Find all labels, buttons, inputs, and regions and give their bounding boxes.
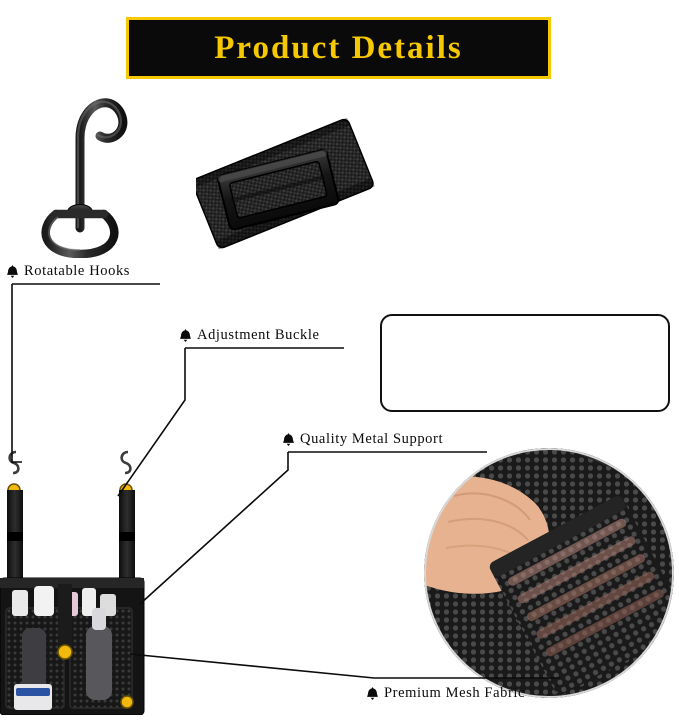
caddy-photo	[0, 440, 180, 715]
buckle-illustration	[196, 110, 376, 272]
bell-icon	[179, 328, 192, 343]
hook-illustration	[8, 78, 148, 258]
product-details-infographic: Product Details	[0, 0, 679, 715]
page-title: Product Details	[214, 30, 462, 67]
shower-caddy-illustration	[0, 440, 180, 715]
blank-callout-box	[380, 314, 670, 412]
callout-quality-metal-support: Quality Metal Support	[282, 432, 443, 447]
callout-label-text: Adjustment Buckle	[197, 328, 320, 343]
hook-photo	[8, 78, 148, 258]
bell-icon	[6, 264, 19, 279]
callout-label-text: Rotatable Hooks	[24, 264, 130, 279]
page-title-banner: Product Details	[126, 17, 551, 79]
mesh-fabric-illustration	[424, 448, 674, 698]
callout-label-text: Premium Mesh Fabric	[384, 686, 525, 701]
callout-rotatable-hooks: Rotatable Hooks	[6, 264, 130, 279]
callout-premium-mesh-fabric: Premium Mesh Fabric	[366, 686, 525, 701]
mesh-closeup-photo	[424, 448, 674, 698]
callout-label-text: Quality Metal Support	[300, 432, 443, 447]
callout-adjustment-buckle: Adjustment Buckle	[179, 328, 320, 343]
bell-icon	[366, 686, 379, 701]
bell-icon	[282, 432, 295, 447]
buckle-photo	[196, 110, 376, 272]
